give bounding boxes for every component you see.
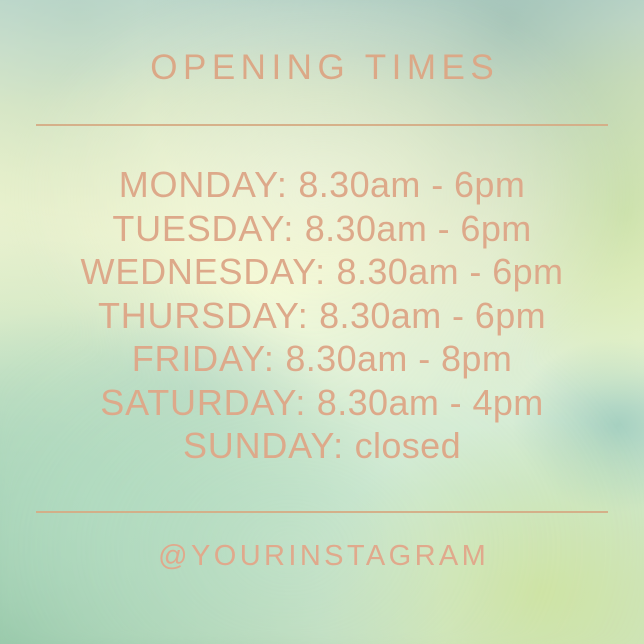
hours-row: FRIDAY: 8.30am - 8pm [132,337,512,381]
hours-time-value: 8.30am - 8pm [285,338,512,379]
hours-time-value: 8.30am - 6pm [337,251,564,292]
hours-time-value: 8.30am - 6pm [298,164,525,205]
hours-day-label: SATURDAY: [100,382,306,423]
page-title: OPENING TIMES [145,50,499,85]
hours-row: SUNDAY: closed [183,424,461,468]
opening-hours-list: MONDAY: 8.30am - 6pm TUESDAY: 8.30am - 6… [0,163,644,468]
hours-day-label: THURSDAY: [98,295,309,336]
hours-time-value: 8.30am - 6pm [305,208,532,249]
poster-content: OPENING TIMES MONDAY: 8.30am - 6pm TUESD… [0,0,644,644]
hours-day-label: WEDNESDAY: [81,251,326,292]
hours-day-label: TUESDAY: [112,208,294,249]
hours-row: MONDAY: 8.30am - 6pm [119,163,525,207]
hours-day-label: SUNDAY: [183,425,344,466]
divider-bottom [36,511,608,513]
hours-row: SATURDAY: 8.30am - 4pm [100,381,543,425]
hours-time-value: closed [355,425,461,466]
hours-time-value: 8.30am - 4pm [317,382,544,423]
instagram-handle: @YOURINSTAGRAM [0,542,644,571]
hours-row: WEDNESDAY: 8.30am - 6pm [81,250,564,294]
opening-times-poster: OPENING TIMES MONDAY: 8.30am - 6pm TUESD… [0,0,644,644]
hours-day-label: FRIDAY: [132,338,275,379]
hours-row: THURSDAY: 8.30am - 6pm [98,294,546,338]
hours-time-value: 8.30am - 6pm [319,295,546,336]
hours-row: TUESDAY: 8.30am - 6pm [112,207,531,251]
hours-day-label: MONDAY: [119,164,288,205]
divider-top [36,124,608,126]
